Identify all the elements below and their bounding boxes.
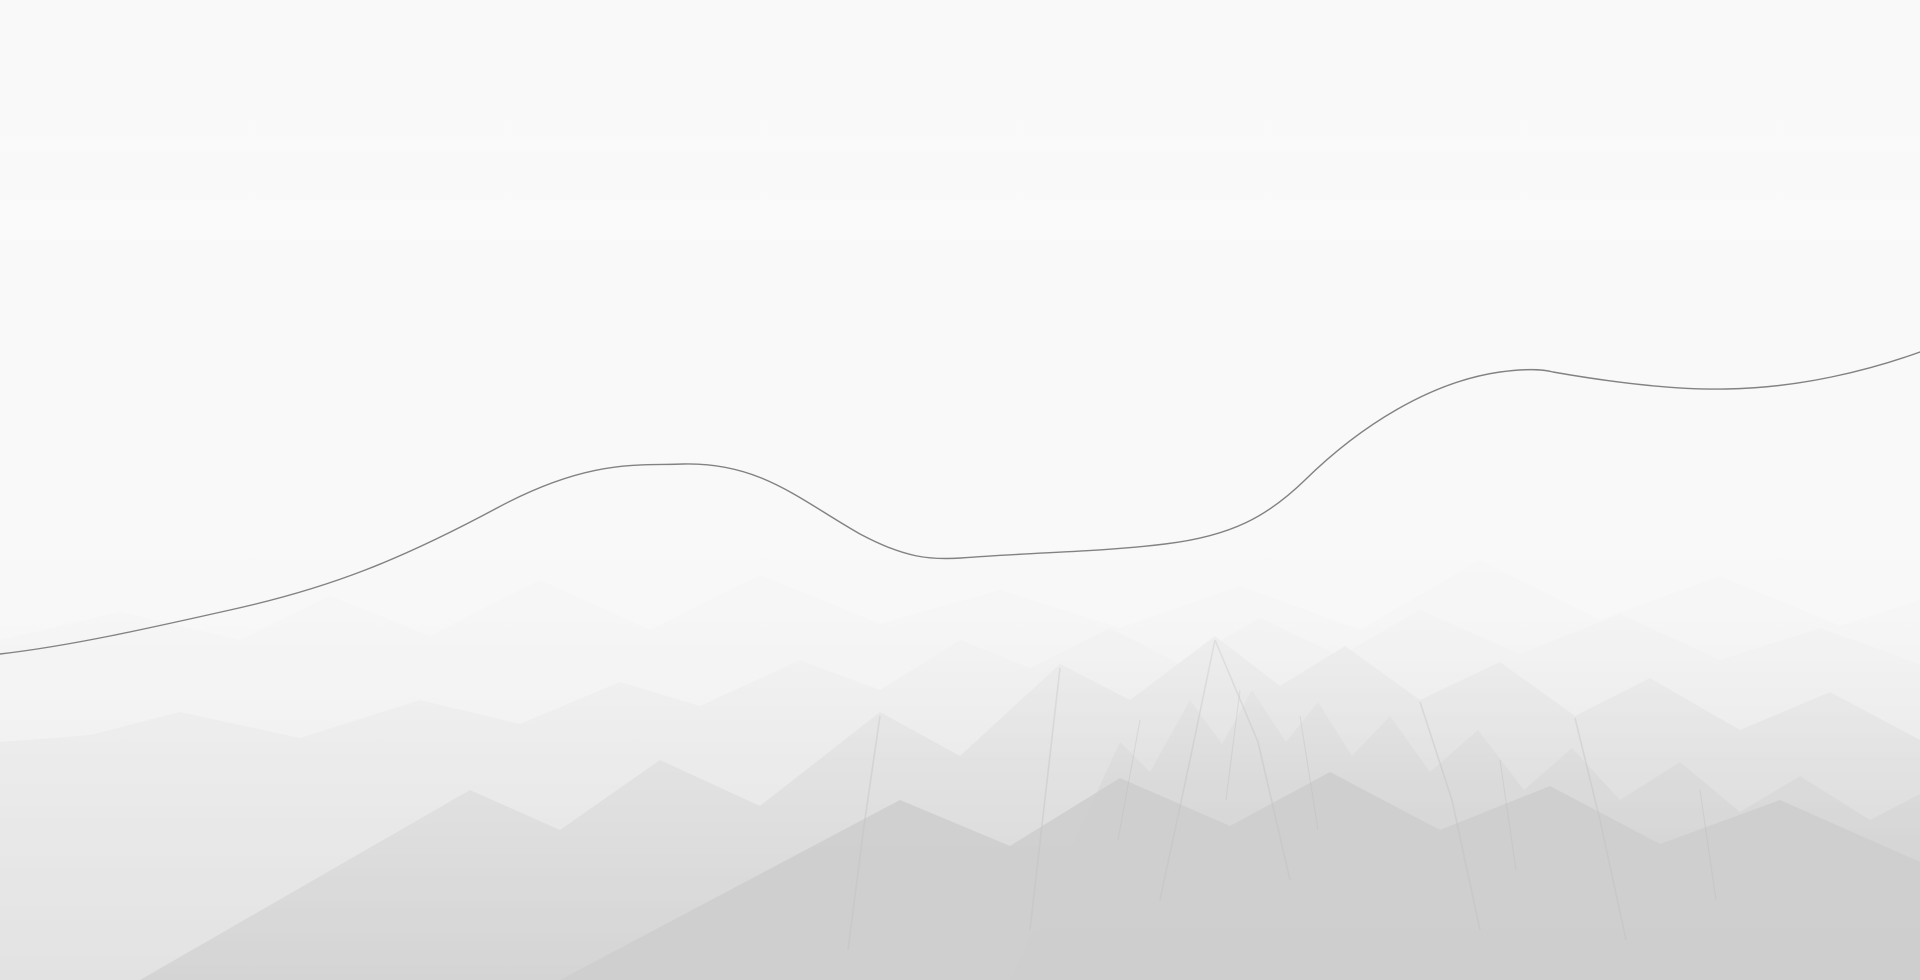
mountain-background-image [0,0,1920,980]
timeline-poster [0,0,1920,980]
